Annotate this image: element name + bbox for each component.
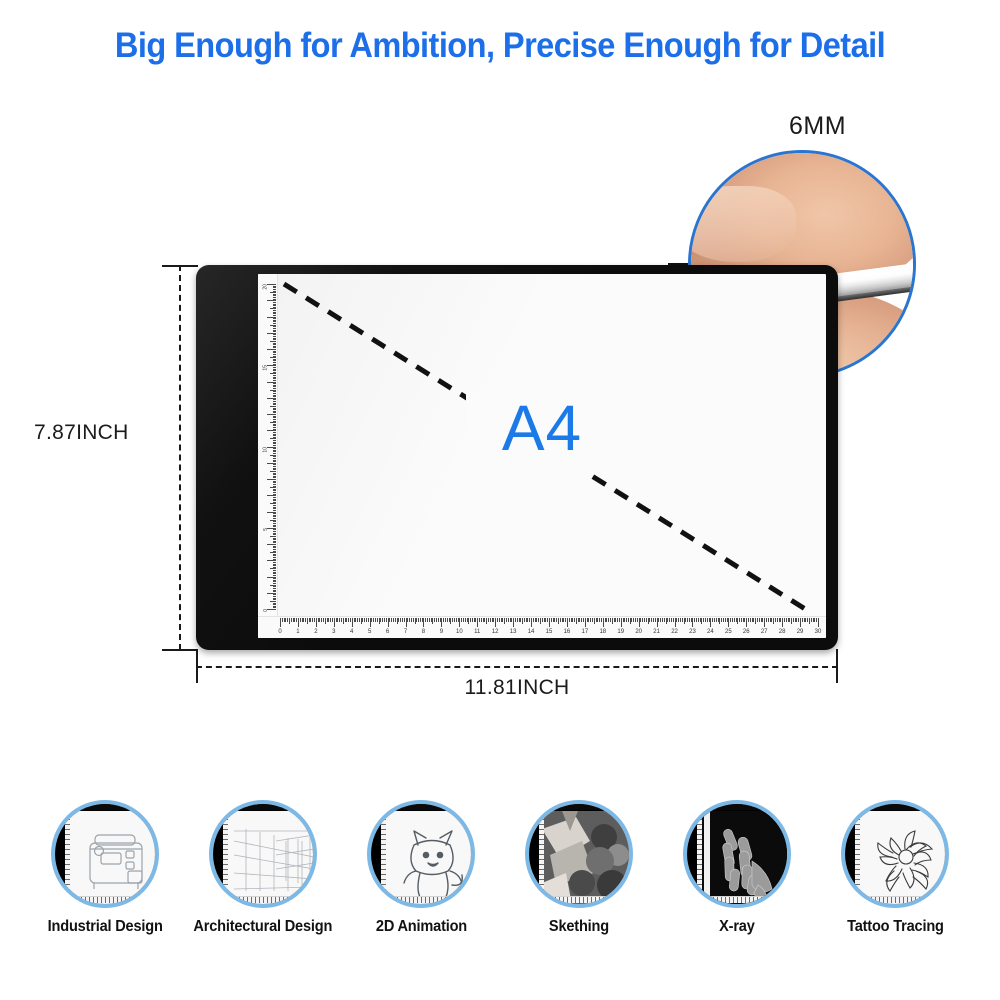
- ruler-tick: [273, 344, 277, 345]
- ruler-tick: [270, 292, 276, 293]
- use-case-row: Industrial Design Architectural Design 2…: [30, 800, 970, 975]
- architectural-design-thumbnail: [226, 811, 317, 905]
- ruler-tick: [273, 378, 277, 379]
- ruler-tick: [273, 297, 277, 298]
- ruler-tick: [267, 317, 276, 318]
- ruler-tick: [270, 568, 276, 569]
- horizontal-ruler: 0123456789101112131415161718192021222324…: [258, 616, 826, 638]
- light-panel: A4 05101520 0123456789101112131415161718…: [258, 274, 826, 638]
- ruler-tick: [273, 336, 277, 337]
- ruler-tick: [273, 318, 277, 319]
- ruler-tick: [273, 489, 277, 490]
- ruler-tick-label: 0: [263, 609, 269, 612]
- ruler-tick: [273, 466, 277, 467]
- ruler-tick: [273, 525, 277, 526]
- ruler-tick: [273, 546, 277, 547]
- thumbnail-top-bezel: [226, 804, 317, 810]
- use-case-label: Skething: [549, 918, 609, 936]
- thumbnail-vertical-ruler: [539, 814, 544, 898]
- ruler-tick: [273, 375, 277, 376]
- ruler-tick: [273, 508, 277, 509]
- ruler-tick: [273, 570, 277, 571]
- ruler-tick: [273, 469, 277, 470]
- thumbnail-horizontal-ruler: [855, 896, 949, 903]
- use-case-item[interactable]: Tattoo Tracing: [820, 800, 970, 936]
- ruler-tick: [273, 531, 277, 532]
- ruler-tick: [273, 356, 277, 357]
- ruler-tick: [273, 351, 277, 352]
- ruler-tick: [273, 490, 277, 491]
- thumbnail-horizontal-ruler: [223, 896, 317, 903]
- ruler-tick: [273, 299, 277, 300]
- ruler-tick-label: 20: [635, 629, 642, 635]
- ruler-tick: [273, 307, 277, 308]
- ruler-tick-label: 7: [404, 629, 407, 635]
- ruler-tick: [270, 308, 276, 309]
- height-dimension-label: 7.87INCH: [34, 421, 174, 445]
- ruler-tick-label: 4: [350, 629, 353, 635]
- ruler-tick: [273, 330, 277, 331]
- ruler-tick-label: 20: [263, 284, 269, 290]
- ruler-tick: [273, 380, 277, 381]
- ruler-tick: [273, 590, 277, 591]
- ruler-tick: [273, 338, 277, 339]
- thumbnail-top-bezel: [700, 804, 791, 810]
- ruler-tick: [273, 461, 277, 462]
- width-dimension-label: 11.81INCH: [196, 676, 838, 700]
- ruler-tick: [273, 497, 277, 498]
- ruler-tick: [273, 572, 277, 573]
- ruler-tick-label: 13: [510, 629, 517, 635]
- ruler-tick: [273, 474, 277, 475]
- ruler-tick: [273, 596, 277, 597]
- ruler-tick: [273, 549, 277, 550]
- ruler-tick: [273, 310, 277, 311]
- ruler-tick: [273, 289, 277, 290]
- ruler-tick: [273, 334, 277, 335]
- ruler-tick: [273, 362, 277, 363]
- ruler-tick-label: 26: [743, 629, 750, 635]
- ruler-tick: [273, 599, 277, 600]
- ruler-tick: [273, 294, 277, 295]
- use-case-item[interactable]: Skething: [504, 800, 654, 936]
- ruler-tick-label: 0: [278, 629, 281, 635]
- ruler-tick: [273, 564, 277, 565]
- ruler-tick-label: 17: [582, 629, 589, 635]
- ruler-tick: [273, 534, 277, 535]
- thumbnail-vertical-ruler: [381, 814, 386, 898]
- ruler-tick-label: 10: [456, 629, 463, 635]
- ruler-tick: [273, 583, 277, 584]
- ruler-tick: [270, 390, 276, 391]
- ruler-tick: [267, 382, 276, 383]
- ruler-tick: [273, 388, 277, 389]
- ruler-tick-label: 6: [386, 629, 389, 635]
- ruler-tick: [270, 552, 276, 553]
- use-case-item[interactable]: 2D Animation: [346, 800, 496, 936]
- tattoo-tracing-thumbnail: [858, 811, 949, 905]
- ruler-tick-label: 5: [368, 629, 371, 635]
- ruler-tick: [273, 538, 277, 539]
- ruler-tick-label: 11: [474, 629, 480, 635]
- use-case-thumbnail: [367, 800, 475, 908]
- ruler-tick: [273, 367, 277, 368]
- ruler-tick: [273, 578, 277, 579]
- led-light-pad: A4 05101520 0123456789101112131415161718…: [196, 265, 838, 650]
- use-case-item[interactable]: X-ray: [662, 800, 812, 936]
- ruler-tick: [273, 320, 277, 321]
- ruler-tick: [273, 313, 277, 314]
- ruler-tick: [273, 343, 277, 344]
- ruler-tick: [273, 352, 277, 353]
- ruler-tick: [267, 593, 276, 594]
- thumbnail-top-bezel: [68, 804, 159, 810]
- ruler-tick: [273, 331, 277, 332]
- ruler-tick: [267, 333, 276, 334]
- thumbnail-horizontal-ruler: [65, 896, 159, 903]
- ruler-tick-label: 15: [546, 629, 553, 635]
- ruler-tick: [273, 554, 277, 555]
- ruler-tick: [273, 565, 277, 566]
- ruler-tick: [273, 477, 277, 478]
- ruler-tick-label: 1: [296, 629, 299, 635]
- ruler-tick: [273, 594, 277, 595]
- ruler-tick: [273, 559, 277, 560]
- ruler-tick: [273, 364, 277, 365]
- ruler-tick: [273, 492, 277, 493]
- thumbnail-top-bezel: [858, 804, 949, 810]
- ruler-tick: [273, 476, 277, 477]
- ruler-tick-label: 25: [725, 629, 732, 635]
- ruler-tick: [270, 341, 276, 342]
- ruler-tick: [273, 360, 277, 361]
- thumbnail-vertical-ruler: [223, 814, 228, 898]
- use-case-thumbnail: [525, 800, 633, 908]
- ruler-tick: [273, 494, 277, 495]
- ruler-tick-label: 14: [528, 629, 535, 635]
- ruler-tick-label: 27: [761, 629, 768, 635]
- ruler-tick: [273, 359, 277, 360]
- use-case-label: Industrial Design: [47, 918, 162, 936]
- ruler-tick: [273, 502, 277, 503]
- ruler-tick: [273, 305, 277, 306]
- use-case-label: 2D Animation: [375, 918, 466, 936]
- use-case-thumbnail: [683, 800, 791, 908]
- ruler-tick: [270, 471, 276, 472]
- ruler-tick: [273, 385, 277, 386]
- ruler-tick: [273, 567, 277, 568]
- ruler-tick: [273, 541, 277, 542]
- ruler-tick: [273, 339, 277, 340]
- ruler-tick: [267, 349, 276, 350]
- use-case-thumbnail: [51, 800, 159, 908]
- thumbnail-vertical-ruler: [855, 814, 860, 898]
- ruler-tick: [273, 507, 277, 508]
- ruler-tick: [273, 603, 277, 604]
- ruler-tick: [273, 523, 277, 524]
- thumbnail-horizontal-ruler: [539, 896, 633, 903]
- ruler-tick: [273, 588, 277, 589]
- ruler-tick: [273, 521, 277, 522]
- ruler-tick: [270, 601, 276, 602]
- ruler-tick: [273, 312, 277, 313]
- ruler-tick-label: 8: [422, 629, 425, 635]
- ruler-tick: [270, 325, 276, 326]
- ruler-tick: [267, 512, 276, 513]
- ruler-tick: [273, 526, 277, 527]
- ruler-tick: [267, 300, 276, 301]
- ruler-tick: [267, 495, 276, 496]
- ruler-tick: [267, 577, 276, 578]
- ruler-tick: [273, 393, 277, 394]
- ruler-tick: [270, 520, 276, 521]
- ruler-tick: [273, 321, 277, 322]
- ruler-tick: [273, 372, 277, 373]
- use-case-label: Tattoo Tracing: [847, 918, 944, 936]
- ruler-tick: [273, 591, 277, 592]
- ruler-tick: [273, 486, 277, 487]
- ruler-tick: [273, 581, 277, 582]
- ruler-tick-label: 22: [671, 629, 678, 635]
- ruler-tick: [273, 377, 277, 378]
- ruler-tick: [273, 586, 277, 587]
- ruler-tick: [273, 555, 277, 556]
- ruler-tick: [267, 463, 276, 464]
- paper-size-label: A4: [258, 396, 826, 460]
- ruler-tick: [267, 544, 276, 545]
- ruler-tick: [273, 370, 277, 371]
- thickness-label: 6MM: [700, 112, 935, 141]
- ruler-tick: [273, 518, 277, 519]
- use-case-item[interactable]: Architectural Design: [188, 800, 338, 936]
- height-dimension-cap-bottom: [162, 649, 198, 651]
- ruler-tick-label: 5: [263, 528, 269, 531]
- sketching-thumbnail: [542, 811, 633, 905]
- ruler-tick: [273, 464, 277, 465]
- use-case-label: Architectural Design: [194, 918, 333, 936]
- thumbnail-top-bezel: [384, 804, 475, 810]
- ruler-tick-label: 19: [617, 629, 624, 635]
- ruler-tick: [273, 347, 277, 348]
- ruler-tick-label: 12: [492, 629, 499, 635]
- ruler-tick: [273, 386, 277, 387]
- ruler-tick-label: 15: [263, 365, 269, 371]
- ruler-tick: [273, 468, 277, 469]
- ruler-tick: [273, 287, 277, 288]
- ruler-tick: [273, 513, 277, 514]
- thumbnail-horizontal-ruler: [697, 896, 791, 903]
- use-case-thumbnail: [209, 800, 317, 908]
- ruler-tick: [273, 328, 277, 329]
- ruler-tick: [273, 606, 277, 607]
- ruler-tick: [273, 291, 277, 292]
- ruler-tick-label: 30: [815, 629, 822, 635]
- industrial-design-thumbnail: [68, 811, 159, 905]
- ruler-tick-label: 16: [564, 629, 571, 635]
- ruler-tick-label: 2: [314, 629, 317, 635]
- thumbnail-vertical-ruler: [697, 814, 702, 898]
- thumbnail-top-bezel: [542, 804, 633, 810]
- ruler-tick: [273, 323, 277, 324]
- ruler-tick-label: 21: [653, 629, 660, 635]
- ruler-tick: [273, 383, 277, 384]
- ruler-tick: [270, 487, 276, 488]
- ruler-tick-label: 28: [779, 629, 786, 635]
- use-case-thumbnail: [841, 800, 949, 908]
- ruler-tick: [273, 473, 277, 474]
- width-dimension-line: [196, 666, 838, 668]
- ruler-tick: [273, 391, 277, 392]
- 2d-animation-thumbnail: [384, 811, 475, 905]
- thumbnail-horizontal-ruler: [381, 896, 475, 903]
- ruler-tick: [273, 302, 277, 303]
- ruler-tick: [273, 510, 277, 511]
- ruler-tick: [273, 551, 277, 552]
- ruler-tick: [270, 373, 276, 374]
- height-dimension-line: [179, 265, 181, 650]
- ruler-tick-label: 3: [332, 629, 335, 635]
- ruler-tick: [273, 533, 277, 534]
- ruler-tick: [273, 369, 277, 370]
- ruler-tick: [273, 542, 277, 543]
- ruler-tick: [273, 304, 277, 305]
- product-infographic: Big Enough for Ambition, Precise Enough …: [0, 0, 1000, 1000]
- ruler-tick-label: 29: [797, 629, 804, 635]
- ruler-tick-label: 23: [689, 629, 696, 635]
- ruler-tick: [273, 482, 277, 483]
- ruler-tick: [273, 505, 277, 506]
- ruler-tick: [273, 529, 277, 530]
- ruler-tick: [273, 499, 277, 500]
- ruler-tick: [273, 573, 277, 574]
- ruler-tick: [273, 346, 277, 347]
- ruler-tick: [273, 315, 277, 316]
- ruler-tick: [273, 598, 277, 599]
- ruler-tick: [273, 481, 277, 482]
- ruler-tick: [270, 585, 276, 586]
- ruler-tick: [267, 560, 276, 561]
- use-case-item[interactable]: Industrial Design: [30, 800, 180, 936]
- thumbnail-vertical-ruler: [65, 814, 70, 898]
- ruler-tick: [273, 562, 277, 563]
- ruler-tick: [270, 536, 276, 537]
- ruler-tick: [270, 357, 276, 358]
- ruler-tick: [273, 604, 277, 605]
- ruler-tick: [273, 515, 277, 516]
- use-case-label: X-ray: [719, 918, 755, 936]
- ruler-tick-label: 18: [599, 629, 606, 635]
- ruler-tick: [273, 547, 277, 548]
- ruler-tick: [273, 295, 277, 296]
- xray-thumbnail: [700, 811, 791, 905]
- page-title: Big Enough for Ambition, Precise Enough …: [35, 26, 965, 66]
- ruler-tick: [273, 354, 277, 355]
- ruler-tick: [273, 500, 277, 501]
- ruler-tick-label: 24: [707, 629, 714, 635]
- ruler-tick: [273, 286, 277, 287]
- ruler-tick: [267, 479, 276, 480]
- ruler-tick: [273, 326, 277, 327]
- ruler-tick: [273, 484, 277, 485]
- ruler-tick: [818, 618, 819, 627]
- ruler-tick: [270, 503, 276, 504]
- ruler-tick: [273, 557, 277, 558]
- ruler-tick: [273, 516, 277, 517]
- ruler-tick: [273, 580, 277, 581]
- ruler-tick: [273, 539, 277, 540]
- ruler-tick: [273, 575, 277, 576]
- ruler-tick-label: 9: [440, 629, 443, 635]
- ruler-tick: [273, 607, 277, 608]
